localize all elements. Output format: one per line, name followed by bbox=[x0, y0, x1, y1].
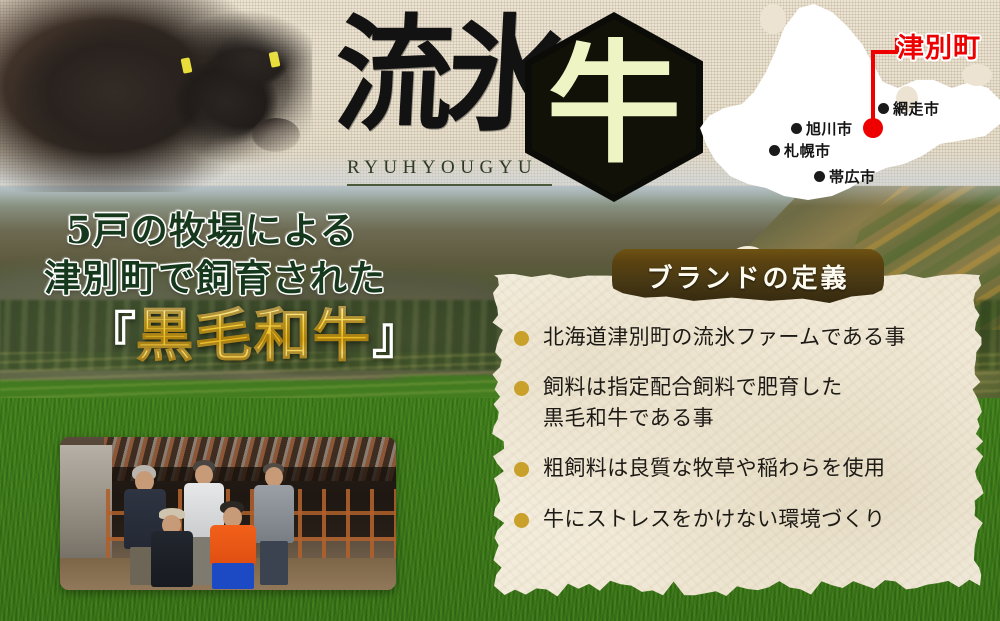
map-city-sapporo: 札幌市 bbox=[769, 140, 831, 161]
headline-block: 5戸の牧場による 津別町で飼育された 『 黒毛和牛 』 bbox=[36, 206, 486, 366]
headline-line-2: 津別町で飼育された bbox=[36, 254, 486, 302]
cow-ear-tag-right bbox=[269, 51, 281, 68]
list-item-text: 牛にストレスをかけない環境づくり bbox=[543, 504, 885, 534]
map-city-abashiri: 網走市 bbox=[878, 98, 940, 119]
bullet-dot-icon bbox=[514, 513, 529, 528]
logo-romaji-text: RYUHYOUGYU bbox=[347, 157, 537, 179]
bracket-open: 『 bbox=[86, 311, 136, 361]
list-item: 牛にストレスをかけない環境づくり bbox=[514, 504, 984, 534]
list-item: 北海道津別町の流氷ファームである事 bbox=[514, 322, 984, 352]
headline-emphasis-row: 『 黒毛和牛 』 bbox=[36, 306, 486, 366]
map-pin-dot-icon bbox=[878, 103, 889, 114]
map-city-asahikawa: 旭川市 bbox=[791, 118, 853, 139]
list-item: 飼料は指定配合飼料で肥育した黒毛和牛である事 bbox=[514, 372, 984, 433]
headline-emphasis-text: 黒毛和牛 bbox=[136, 306, 372, 366]
map-city-label: 帯広市 bbox=[829, 166, 876, 187]
map-pin-dot-icon bbox=[769, 145, 780, 156]
list-item-text: 飼料は指定配合飼料で肥育した黒毛和牛である事 bbox=[543, 372, 843, 433]
panel-banner-title: ブランドの定義 bbox=[646, 258, 849, 295]
cow-ear-tag-left bbox=[181, 57, 193, 74]
map-city-label: 網走市 bbox=[893, 98, 940, 119]
headline-line-1: 5戸の牧場による bbox=[36, 206, 486, 254]
map-pin-dot-icon bbox=[814, 171, 825, 182]
map-leader-line-vertical bbox=[871, 52, 875, 124]
logo-underline bbox=[347, 184, 552, 186]
panel-banner: ブランドの定義 bbox=[612, 249, 884, 303]
hexagon-kanji-text: 牛 bbox=[547, 39, 682, 171]
list-item-text: 北海道津別町の流氷ファームである事 bbox=[543, 322, 906, 352]
list-item-text: 粗飼料は良質な牧草や稲わらを使用 bbox=[543, 453, 885, 483]
bullet-dot-icon bbox=[514, 331, 529, 346]
brand-logo: 流氷 RYUHYOUGYU 牛 bbox=[335, 14, 705, 186]
list-item: 粗飼料は良質な牧草や稲わらを使用 bbox=[514, 453, 984, 483]
bullet-dot-icon bbox=[514, 462, 529, 477]
hexagon-inner: 牛 bbox=[532, 19, 696, 195]
map-highlight-label: 津別町 bbox=[897, 26, 981, 65]
cow-photo bbox=[0, 0, 312, 192]
map-notch-a bbox=[760, 4, 786, 34]
map-notch-c bbox=[962, 64, 992, 86]
map-city-label: 札幌市 bbox=[784, 140, 831, 161]
list-item-text-line2: 黒毛和牛である事 bbox=[543, 403, 843, 433]
bracket-close: 』 bbox=[372, 311, 422, 361]
map-leader-line-horizontal bbox=[871, 50, 899, 54]
map-city-label: 旭川市 bbox=[806, 118, 853, 139]
map-pin-dot-icon bbox=[791, 123, 802, 134]
map-city-obihiro: 帯広市 bbox=[814, 166, 876, 187]
cow-muzzle bbox=[252, 118, 300, 152]
list-item-text-line1: 飼料は指定配合飼料で肥育した bbox=[543, 375, 843, 399]
brand-definition-list: 北海道津別町の流氷ファームである事 飼料は指定配合飼料で肥育した黒毛和牛である事… bbox=[514, 322, 984, 554]
map-target-dot-icon bbox=[863, 118, 883, 138]
bullet-dot-icon bbox=[514, 381, 529, 396]
promo-banner: 流氷 RYUHYOUGYU 牛 網走市 旭川市 札幌市 帯広市 津別町 5戸の bbox=[0, 0, 1000, 621]
farmers-photo bbox=[60, 437, 396, 590]
